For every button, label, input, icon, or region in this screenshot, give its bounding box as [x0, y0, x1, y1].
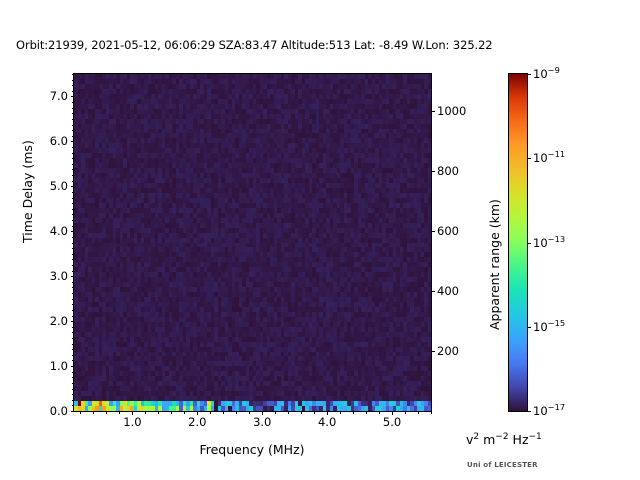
ytick-minor: [72, 265, 74, 266]
colorbar-tick-label: 10−15: [533, 320, 565, 334]
ytick-major: [71, 366, 75, 367]
colorbar-tick-label: 10−9: [533, 67, 560, 81]
ytick-minor: [72, 383, 74, 384]
ytick-minor: [72, 136, 74, 137]
ytick-minor: [72, 304, 74, 305]
xtick-minor: [366, 411, 367, 414]
ytick-minor: [72, 153, 74, 154]
ytick-minor: [72, 344, 74, 345]
ytick-minor: [72, 338, 74, 339]
ytick-minor: [72, 400, 74, 401]
ytick-minor: [72, 327, 74, 328]
ytick-minor: [72, 181, 74, 182]
ytick-minor: [72, 209, 74, 210]
ytick-minor: [72, 282, 74, 283]
ytick-minor: [72, 91, 74, 92]
colorbar: 10−1710−1510−1310−1110−9: [508, 73, 528, 412]
y-tick-label: 4.0: [50, 225, 68, 237]
y-tick-label: 3.0: [50, 270, 68, 282]
xtick-minor: [249, 411, 250, 414]
ytick-minor: [72, 287, 74, 288]
ytick-minor: [72, 360, 74, 361]
xtick-minor: [405, 411, 406, 414]
ytick-minor: [72, 125, 74, 126]
ytick-minor: [72, 147, 74, 148]
right-tick-label: 400: [437, 285, 459, 297]
ytick-minor: [72, 80, 74, 81]
ytick-minor: [72, 164, 74, 165]
ytick-minor: [72, 248, 74, 249]
ytick-minor: [72, 316, 74, 317]
xtick-minor: [223, 411, 224, 414]
xtick-minor: [288, 411, 289, 414]
y-tick-label: 0.0: [50, 405, 68, 417]
y-tick-label: 7.0: [50, 90, 68, 102]
ytick-minor: [72, 389, 74, 390]
x-tick-label: 3.0: [253, 416, 271, 428]
xtick-minor: [80, 411, 81, 414]
rtick-major: [431, 111, 435, 112]
ytick-minor: [72, 85, 74, 86]
ytick-minor: [72, 220, 74, 221]
y-tick-label: 5.0: [50, 180, 68, 192]
ytick-minor: [72, 113, 74, 114]
y-tick-label: 1.0: [50, 360, 68, 372]
colorbar-tick: [527, 243, 531, 244]
figure-title: Orbit:21939, 2021-05-12, 06:06:29 SZA:83…: [16, 38, 493, 52]
ytick-major: [71, 276, 75, 277]
ytick-major: [71, 321, 75, 322]
xtick-minor: [301, 411, 302, 414]
colorbar-tick-label: 10−13: [533, 236, 565, 250]
xtick-minor: [145, 411, 146, 414]
ytick-minor: [72, 226, 74, 227]
xtick-minor: [379, 411, 380, 414]
ytick-minor: [72, 203, 74, 204]
x-tick-label: 1.0: [123, 416, 141, 428]
ytick-minor: [72, 175, 74, 176]
xtick-minor: [275, 411, 276, 414]
ytick-minor: [72, 130, 74, 131]
colorbar-units-label: v2 m−2 Hz−1: [466, 432, 542, 447]
right-tick-label: 800: [437, 165, 459, 177]
x-tick-label: 2.0: [188, 416, 206, 428]
ytick-minor: [72, 349, 74, 350]
x-tick-label: 4.0: [318, 416, 336, 428]
ytick-minor: [72, 214, 74, 215]
ytick-minor: [72, 372, 74, 373]
rtick-major: [431, 351, 435, 352]
ytick-minor: [72, 271, 74, 272]
colorbar-tick-label: 10−17: [533, 404, 565, 418]
colorbar-gradient: [509, 74, 527, 411]
ytick-minor: [72, 108, 74, 109]
colorbar-tick: [527, 411, 531, 412]
ytick-minor: [72, 158, 74, 159]
xtick-minor: [418, 411, 419, 414]
rtick-major: [431, 291, 435, 292]
ytick-minor: [72, 310, 74, 311]
colorbar-tick-label: 10−11: [533, 151, 565, 165]
right-axis-title: Apparent range (km): [487, 199, 502, 330]
xtick-minor: [314, 411, 315, 414]
xtick-minor: [340, 411, 341, 414]
ytick-minor: [72, 237, 74, 238]
ytick-major: [71, 96, 75, 97]
figure-canvas: Orbit:21939, 2021-05-12, 06:06:29 SZA:83…: [0, 0, 640, 480]
colorbar-tick: [527, 327, 531, 328]
ytick-minor: [72, 259, 74, 260]
ytick-major: [71, 411, 75, 412]
ytick-minor: [72, 299, 74, 300]
ytick-minor: [72, 198, 74, 199]
right-tick-label: 600: [437, 225, 459, 237]
ytick-major: [71, 141, 75, 142]
right-tick-label: 200: [437, 345, 459, 357]
ytick-minor: [72, 394, 74, 395]
radargram-heatmap: [74, 74, 431, 411]
ytick-minor: [72, 254, 74, 255]
credit-label: Uni of LEICESTER: [467, 461, 538, 469]
radargram-axes: 0.01.02.03.04.05.06.07.0 200400600800100…: [73, 73, 432, 412]
ytick-minor: [72, 102, 74, 103]
xtick-minor: [353, 411, 354, 414]
x-axis-title: Frequency (MHz): [199, 442, 304, 457]
rtick-major: [431, 171, 435, 172]
ytick-minor: [72, 405, 74, 406]
ytick-minor: [72, 293, 74, 294]
ytick-minor: [72, 119, 74, 120]
xtick-minor: [210, 411, 211, 414]
ytick-minor: [72, 355, 74, 356]
xtick-minor: [171, 411, 172, 414]
right-tick-label: 1000: [437, 105, 466, 117]
ytick-minor: [72, 169, 74, 170]
y-tick-label: 6.0: [50, 135, 68, 147]
ytick-minor: [72, 332, 74, 333]
rtick-major: [431, 231, 435, 232]
xtick-minor: [119, 411, 120, 414]
x-tick-label: 5.0: [383, 416, 401, 428]
xtick-minor: [106, 411, 107, 414]
ytick-major: [71, 186, 75, 187]
ytick-minor: [72, 74, 74, 75]
colorbar-tick: [527, 158, 531, 159]
ytick-minor: [72, 377, 74, 378]
xtick-minor: [93, 411, 94, 414]
ytick-minor: [72, 243, 74, 244]
xtick-minor: [431, 411, 432, 414]
ytick-minor: [72, 192, 74, 193]
y-tick-label: 2.0: [50, 315, 68, 327]
xtick-minor: [184, 411, 185, 414]
xtick-minor: [158, 411, 159, 414]
colorbar-tick: [527, 74, 531, 75]
ytick-major: [71, 231, 75, 232]
y-axis-title: Time Delay (ms): [20, 140, 35, 243]
xtick-minor: [236, 411, 237, 414]
